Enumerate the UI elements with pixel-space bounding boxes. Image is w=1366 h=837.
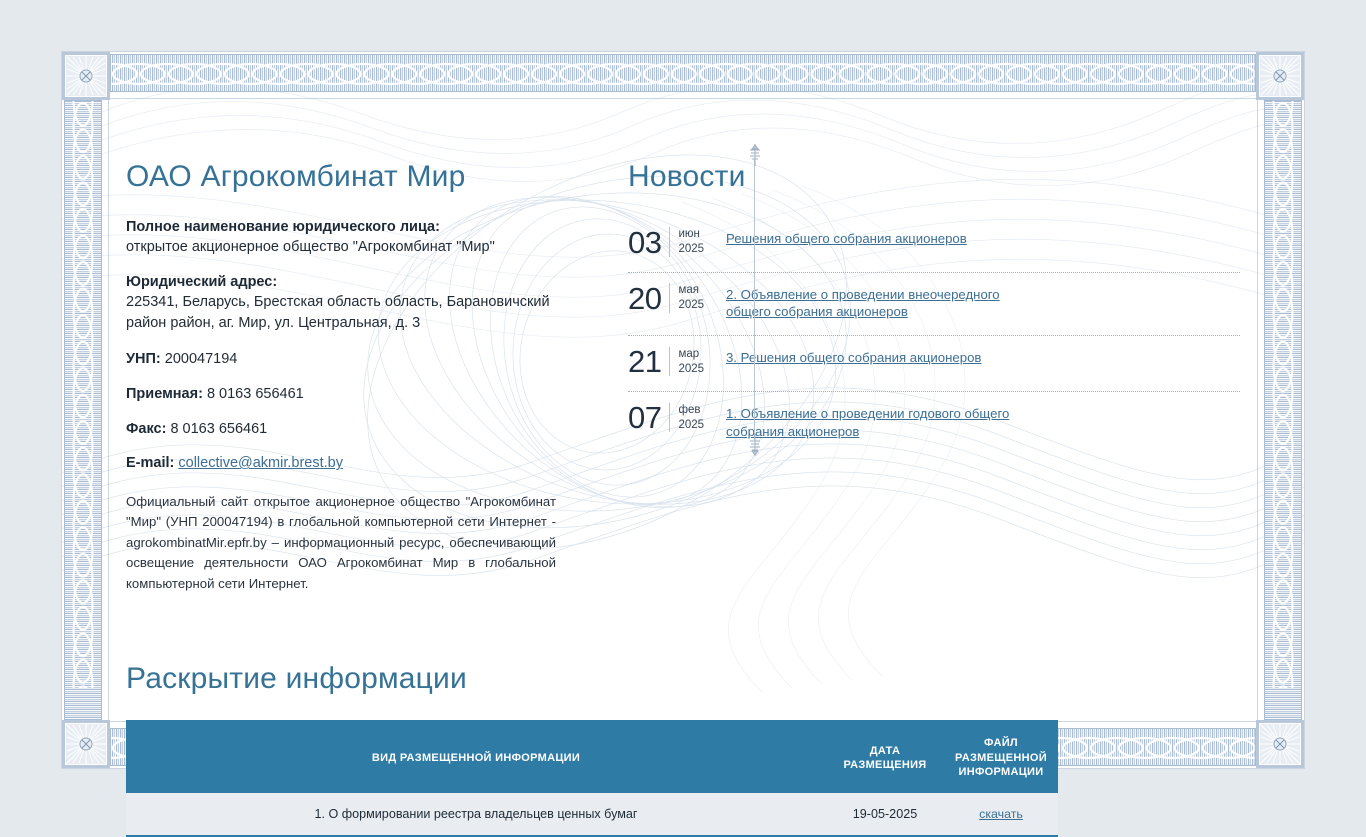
news-link[interactable]: Решения общего собрания акционеров	[724, 227, 1046, 248]
news-day: 21	[628, 346, 669, 377]
news-month-year: фев 2025	[669, 403, 704, 432]
page-content: ОАО Агрокомбинат Мир Полное наименование…	[62, 52, 1304, 768]
news-date: 21 мар 2025	[628, 346, 724, 377]
field-address-value: 225341, Беларусь, Брестская область обла…	[126, 294, 550, 331]
field-email-label: E-mail:	[126, 455, 174, 471]
disclosure-table-head: ВИД РАЗМЕЩЕННОЙ ИНФОРМАЦИИ ДАТА РАЗМЕЩЕН…	[126, 722, 1058, 792]
news-month: июн	[678, 228, 699, 240]
column-divider-ornament	[748, 144, 762, 456]
column-header-date: ДАТА РАЗМЕЩЕНИЯ	[826, 722, 944, 792]
disclosure-table-body: 1. О формировании реестра владельцев цен…	[126, 793, 1058, 836]
news-column: Новости 03 июн 2025 Решения общего собра…	[556, 108, 1240, 455]
certificate-frame: ОАО Агрокомбинат Мир Полное наименование…	[62, 52, 1304, 768]
news-item: 07 фев 2025 1. Объявление о проведении г…	[628, 392, 1240, 455]
news-day: 07	[628, 402, 669, 433]
field-email: E-mail: collective@akmir.brest.by	[126, 453, 556, 474]
field-reception-label: Приемная:	[126, 386, 203, 402]
column-header-kind: ВИД РАЗМЕЩЕННОЙ ИНФОРМАЦИИ	[126, 722, 826, 792]
news-year: 2025	[678, 363, 704, 375]
hero-section: ОАО Агрокомбинат Мир Полное наименование…	[126, 108, 1240, 594]
news-month-year: мая 2025	[669, 283, 704, 312]
cell-date: 19-05-2025	[826, 793, 944, 836]
disclosure-table: ВИД РАЗМЕЩЕННОЙ ИНФОРМАЦИИ ДАТА РАЗМЕЩЕН…	[126, 722, 1058, 836]
cell-file: скачать	[944, 793, 1058, 836]
field-unp: УНП: 200047194	[126, 349, 556, 370]
table-header-row: ВИД РАЗМЕЩЕННОЙ ИНФОРМАЦИИ ДАТА РАЗМЕЩЕН…	[126, 722, 1058, 792]
field-fax-value: 8 0163 656461	[170, 421, 267, 437]
email-link[interactable]: collective@akmir.brest.by	[178, 455, 343, 471]
news-month: мар	[678, 348, 699, 360]
news-item: 20 мая 2025 2. Объявление о проведении в…	[628, 273, 1240, 337]
page-title: ОАО Агрокомбинат Мир	[126, 160, 556, 195]
field-full-name-label: Полное наименование юридического лица:	[126, 219, 440, 235]
news-month: фев	[678, 404, 700, 416]
news-year: 2025	[678, 299, 704, 311]
news-link[interactable]: 2. Объявление о проведении внеочередного…	[724, 283, 1046, 322]
news-item: 21 мар 2025 3. Решения общего собрания а…	[628, 336, 1240, 392]
field-full-name-value: открытое акционерное общество "Агрокомби…	[126, 239, 495, 255]
field-reception-value: 8 0163 656461	[207, 386, 304, 402]
news-date: 03 июн 2025	[628, 227, 724, 258]
divider-line	[754, 160, 755, 440]
field-full-name: Полное наименование юридического лица: о…	[126, 217, 556, 258]
column-header-file: ФАЙЛ РАЗМЕЩЕННОЙ ИНФОРМАЦИИ	[944, 722, 1058, 792]
news-day: 03	[628, 227, 669, 258]
cell-kind: 1. О формировании реестра владельцев цен…	[126, 793, 826, 836]
field-fax-label: Факс:	[126, 421, 166, 437]
download-link[interactable]: скачать	[979, 807, 1023, 821]
divider-cap-top-icon	[748, 144, 762, 166]
news-link[interactable]: 3. Решения общего собрания акционеров	[724, 346, 1046, 367]
news-item: 03 июн 2025 Решения общего собрания акци…	[628, 217, 1240, 273]
news-year: 2025	[678, 243, 704, 255]
news-month-year: мар 2025	[669, 347, 704, 376]
field-unp-value: 200047194	[165, 351, 238, 367]
field-address: Юридический адрес: 225341, Беларусь, Бре…	[126, 272, 556, 334]
disclosure-title: Раскрытие информации	[126, 662, 1240, 697]
field-fax: Факс: 8 0163 656461	[126, 419, 556, 440]
field-reception: Приемная: 8 0163 656461	[126, 384, 556, 405]
news-month: мая	[678, 284, 699, 296]
news-year: 2025	[678, 419, 704, 431]
news-day: 20	[628, 283, 669, 314]
news-month-year: июн 2025	[669, 227, 704, 256]
news-date: 20 мая 2025	[628, 283, 724, 314]
news-link[interactable]: 1. Объявление о проведении годового обще…	[724, 402, 1046, 441]
site-description: Официальный сайт открытое акционерное об…	[126, 492, 556, 594]
divider-cap-bottom-icon	[748, 434, 762, 456]
news-title: Новости	[628, 160, 1240, 195]
field-unp-label: УНП:	[126, 351, 161, 367]
field-address-label: Юридический адрес:	[126, 274, 277, 290]
news-date: 07 фев 2025	[628, 402, 724, 433]
news-list: 03 июн 2025 Решения общего собрания акци…	[628, 217, 1240, 455]
company-info-column: ОАО Агрокомбинат Мир Полное наименование…	[126, 108, 556, 594]
table-row: 1. О формировании реестра владельцев цен…	[126, 793, 1058, 836]
disclosure-section: Раскрытие информации ВИД РАЗМЕЩЕННОЙ ИНФ…	[126, 662, 1240, 837]
